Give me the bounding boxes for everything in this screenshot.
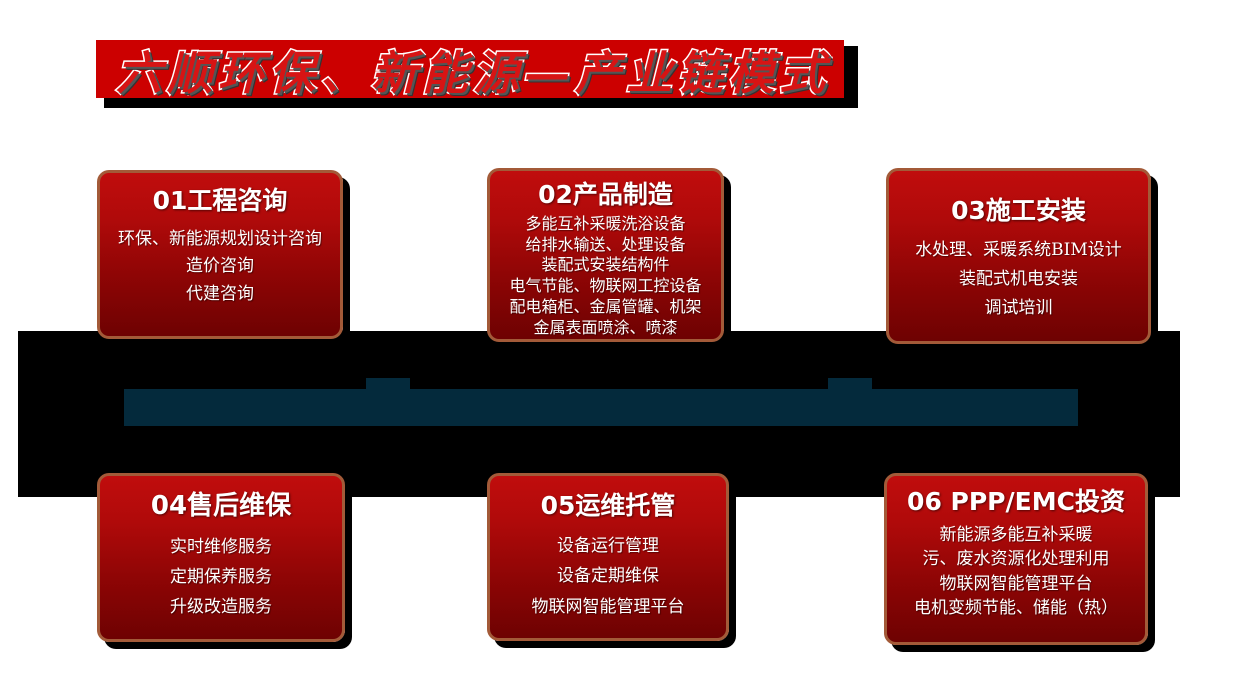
- card-item-list: 设备运行管理 设备定期维保 物联网智能管理平台: [532, 531, 685, 623]
- card-item: 电机变频节能、储能（热）: [914, 596, 1118, 620]
- card-title: 03施工安装: [951, 197, 1086, 226]
- process-card-01[interactable]: 01工程咨询 环保、新能源规划设计咨询 造价咨询 代建咨询: [97, 170, 343, 339]
- card-item: 多能互补采暖洗浴设备: [509, 214, 701, 235]
- card-item: 物联网智能管理平台: [532, 592, 685, 623]
- process-card-02[interactable]: 02产品制造 多能互补采暖洗浴设备 给排水输送、处理设备 装配式安装结构件 电气…: [487, 168, 724, 342]
- card-title: 06 PPP/EMC投资: [907, 488, 1125, 517]
- card-item: 电气节能、物联网工控设备: [509, 276, 701, 297]
- process-card-06[interactable]: 06 PPP/EMC投资 新能源多能互补采暖 污、废水资源化处理利用 物联网智能…: [884, 473, 1148, 645]
- card-item: 定期保养服务: [170, 562, 272, 592]
- card-item-list: 新能源多能互补采暖 污、废水资源化处理利用 物联网智能管理平台 电机变频节能、储…: [914, 523, 1118, 621]
- card-item: 设备运行管理: [532, 531, 685, 562]
- card-item-list: 环保、新能源规划设计咨询 造价咨询 代建咨询: [118, 226, 322, 309]
- process-card-03[interactable]: 03施工安装 水处理、采暖系统BIM设计 装配式机电安装 调试培训: [886, 168, 1151, 344]
- card-item: 给排水输送、处理设备: [509, 235, 701, 256]
- process-card-04[interactable]: 04售后维保 实时维修服务 定期保养服务 升级改造服务: [97, 473, 345, 642]
- card-item: 造价咨询: [118, 253, 322, 281]
- card-item: 配电箱柜、金属管罐、机架: [509, 297, 701, 318]
- card-item: 水处理、采暖系统BIM设计: [915, 236, 1122, 265]
- card-item: 调试培训: [915, 294, 1122, 323]
- card-item: 新能源多能互补采暖: [914, 523, 1118, 547]
- card-item: 装配式机电安装: [915, 265, 1122, 294]
- card-item: 代建咨询: [118, 281, 322, 309]
- card-item: 物联网智能管理平台: [914, 572, 1118, 596]
- process-card-05[interactable]: 05运维托管 设备运行管理 设备定期维保 物联网智能管理平台: [487, 473, 729, 641]
- middle-navy-band: [124, 389, 1078, 426]
- title-banner: 六顺环保、新能源—产业链模式: [96, 40, 850, 102]
- card-item: 装配式安装结构件: [509, 255, 701, 276]
- card-item: 实时维修服务: [170, 532, 272, 562]
- card-item-list: 实时维修服务 定期保养服务 升级改造服务: [170, 532, 272, 623]
- card-title: 05运维托管: [541, 492, 676, 521]
- card-item: 金属表面喷涂、喷漆: [509, 318, 701, 339]
- card-title: 04售后维保: [151, 492, 291, 522]
- card-item: 升级改造服务: [170, 592, 272, 622]
- card-item-list: 水处理、采暖系统BIM设计 装配式机电安装 调试培训: [915, 236, 1122, 323]
- card-item: 环保、新能源规划设计咨询: [118, 226, 322, 254]
- card-title: 01工程咨询: [153, 187, 288, 216]
- page-title: 六顺环保、新能源—产业链模式: [96, 34, 850, 106]
- card-item-list: 多能互补采暖洗浴设备 给排水输送、处理设备 装配式安装结构件 电气节能、物联网工…: [509, 214, 701, 339]
- card-item: 污、废水资源化处理利用: [914, 547, 1118, 571]
- card-title: 02产品制造: [538, 181, 673, 210]
- card-item: 设备定期维保: [532, 561, 685, 592]
